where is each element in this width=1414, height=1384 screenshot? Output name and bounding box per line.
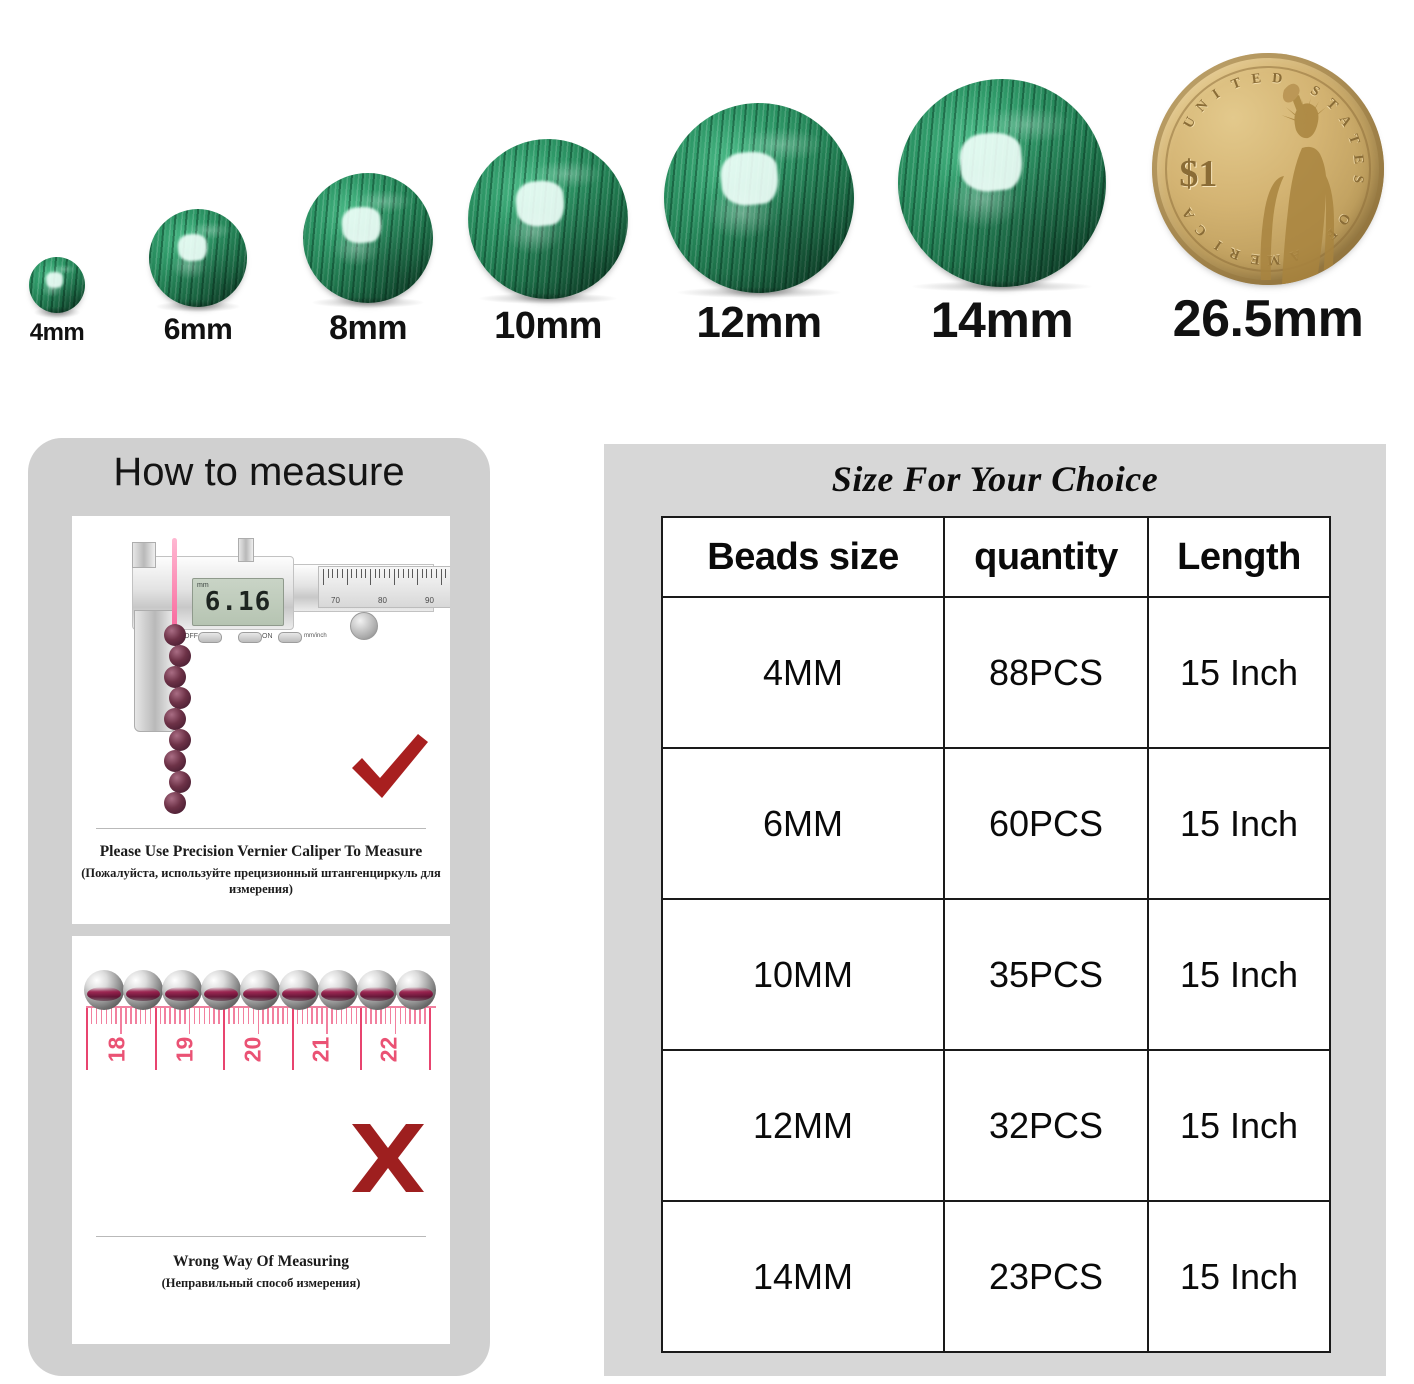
bead-sample: 4mm xyxy=(2,249,112,345)
bead-shadow xyxy=(156,301,240,312)
table-row: 14MM23PCS15 Inch xyxy=(662,1201,1330,1352)
table-cell: 15 Inch xyxy=(1148,1050,1330,1201)
table-cell: 4MM xyxy=(662,597,944,748)
steel-bead xyxy=(123,970,163,1010)
correct-measuring-photo: mm 6.16 OFF ON mm/inch 708090 Ple xyxy=(72,516,450,924)
wrong-caption-en: Wrong Way Of Measuring xyxy=(72,1252,450,1271)
caliper-scale-tick xyxy=(384,569,385,578)
caliper-scale-tick xyxy=(389,569,390,578)
statue-of-liberty-icon xyxy=(1244,80,1364,285)
caliper-scale-tick xyxy=(370,569,371,585)
malachite-bead xyxy=(664,103,854,293)
caliper-scale-tick xyxy=(436,569,437,578)
caliper-scale-tick xyxy=(398,569,399,578)
measured-bead-strand xyxy=(160,624,200,814)
malachite-bead xyxy=(29,257,85,313)
caliper-unit-label: mm xyxy=(197,582,209,589)
bead-highlight xyxy=(514,178,566,228)
malachite-bead xyxy=(303,173,433,303)
how-to-measure-title: How to measure xyxy=(28,450,490,494)
steel-bead xyxy=(357,970,397,1010)
bead-size-label: 12mm xyxy=(696,301,821,345)
caliper-scale-tick xyxy=(417,569,418,585)
table-column-header: Length xyxy=(1148,517,1330,597)
caliper-on-button[interactable] xyxy=(238,632,262,643)
tape-major-tick xyxy=(223,1008,225,1070)
caliper-scale-tick xyxy=(365,569,366,578)
caliper-scale-tick xyxy=(361,569,362,578)
bead-sample: 12mm xyxy=(664,95,854,345)
tape-number: 22 xyxy=(375,1037,402,1063)
tape-major-tick xyxy=(429,1008,431,1070)
bead-highlight xyxy=(340,205,383,245)
bead-size-label: 10mm xyxy=(494,307,602,345)
caliper-reading: 6.16 xyxy=(205,587,272,617)
caliper-scale-tick xyxy=(328,569,329,578)
caliper-scale-tick xyxy=(422,569,423,578)
caliper-scale-tick xyxy=(379,569,380,578)
table-column-header: Beads size xyxy=(662,517,944,597)
caliper-on-label: ON xyxy=(262,633,273,640)
caliper-scale-tick xyxy=(426,569,427,578)
vernier-caliper-illustration: mm 6.16 OFF ON mm/inch 708090 xyxy=(72,528,450,818)
bead-size-label: 8mm xyxy=(329,311,407,345)
tape-number: 19 xyxy=(171,1037,198,1063)
sample-bead xyxy=(164,792,186,814)
bead-sample: 6mm xyxy=(143,201,253,345)
sample-bead xyxy=(164,708,186,730)
correct-caption-ru: (Пожалуйста, используйте прецизионный шт… xyxy=(72,865,450,898)
caliper-scale-number: 80 xyxy=(378,596,387,605)
bead-shadow xyxy=(912,281,1092,292)
malachite-bead xyxy=(468,139,628,299)
caliper-scale-tick xyxy=(351,569,352,578)
bead-highlight xyxy=(718,150,780,209)
table-cell: 23PCS xyxy=(944,1201,1148,1352)
bead-sample: 8mm xyxy=(303,165,433,345)
caliper-scale-tick xyxy=(337,569,338,578)
table-cell: 6MM xyxy=(662,748,944,899)
bead-size-comparison-row: 4mm6mm8mm10mm12mm14mmUNITEDSTATESOFAMERI… xyxy=(0,0,1414,345)
sample-bead xyxy=(169,687,191,709)
bead-highlight xyxy=(45,271,63,288)
correct-caption-en: Please Use Precision Vernier Caliper To … xyxy=(72,842,450,861)
tape-major-tick xyxy=(360,1008,362,1070)
steel-bead xyxy=(318,970,358,1010)
bead-sample: 14mm xyxy=(898,71,1106,345)
table-row: 6MM60PCS15 Inch xyxy=(662,748,1330,899)
table-cell: 88PCS xyxy=(944,597,1148,748)
tape-number: 21 xyxy=(307,1037,334,1063)
table-cell: 12MM xyxy=(662,1050,944,1201)
caliper-off-button[interactable] xyxy=(198,632,222,643)
tape-number: 18 xyxy=(103,1037,130,1063)
sample-bead xyxy=(169,729,191,751)
caliper-scale-number: 70 xyxy=(331,596,340,605)
table-cell: 60PCS xyxy=(944,748,1148,899)
table-cell: 32PCS xyxy=(944,1050,1148,1201)
tape-major-tick xyxy=(86,1008,88,1070)
caliper-lock-screw[interactable] xyxy=(350,612,378,640)
size-chart-panel: Size For Your Choice Beads sizequantityL… xyxy=(604,444,1386,1376)
caliper-depth-bar xyxy=(238,538,254,562)
steel-bead xyxy=(162,970,202,1010)
steel-bead xyxy=(396,970,436,1010)
bead-sample: 10mm xyxy=(468,131,628,345)
caliper-scale-tick xyxy=(441,569,442,585)
table-cell: 35PCS xyxy=(944,899,1148,1050)
sample-bead xyxy=(164,624,186,646)
tape-major-tick xyxy=(155,1008,157,1070)
check-icon xyxy=(346,730,432,804)
caliper-lcd-display: mm 6.16 xyxy=(192,578,284,626)
steel-bead xyxy=(84,970,124,1010)
caliper-pink-rod xyxy=(172,538,177,630)
caliper-scale-tick xyxy=(347,569,348,585)
caliper-scale-tick xyxy=(323,569,324,585)
bead-shadow xyxy=(312,297,424,308)
malachite-bead xyxy=(149,209,247,307)
table-cell: 15 Inch xyxy=(1148,899,1330,1050)
caliper-scale-tick xyxy=(375,569,376,578)
wrong-measuring-photo: 1819202122 Wrong Way Of Measuring (Непра… xyxy=(72,936,450,1344)
size-chart-table: Beads sizequantityLength 4MM88PCS15 Inch… xyxy=(661,516,1331,1353)
how-to-measure-panel: How to measure mm 6.16 OFF ON mm/inch 70… xyxy=(28,438,490,1376)
caliper-scale-tick xyxy=(342,569,343,578)
bead-size-label: 14mm xyxy=(931,295,1074,345)
caliper-upper-jaw xyxy=(132,542,156,568)
wrong-caption-ru: (Неправильный способ измерения) xyxy=(72,1275,450,1291)
table-cell: 15 Inch xyxy=(1148,748,1330,899)
sample-bead xyxy=(169,645,191,667)
tape-measure: 1819202122 xyxy=(86,1006,436,1114)
malachite-bead xyxy=(898,79,1106,287)
table-row: 10MM35PCS15 Inch xyxy=(662,899,1330,1050)
steel-bead xyxy=(201,970,241,1010)
tape-major-tick xyxy=(292,1008,294,1070)
steel-bead xyxy=(240,970,280,1010)
steel-bead xyxy=(279,970,319,1010)
caliper-scale: 708090 xyxy=(318,566,450,608)
steel-bead-strand xyxy=(84,970,440,1012)
us-dollar-coin: UNITEDSTATESOFAMERICA$1 xyxy=(1152,53,1384,285)
caliper-scale-tick xyxy=(412,569,413,578)
table-row: 4MM88PCS15 Inch xyxy=(662,597,1330,748)
caliper-scale-tick xyxy=(445,569,446,578)
cross-icon xyxy=(348,1120,428,1196)
sample-bead xyxy=(164,750,186,772)
bead-highlight xyxy=(177,233,209,263)
table-cell: 15 Inch xyxy=(1148,597,1330,748)
caliper-scale-number: 90 xyxy=(425,596,434,605)
bead-size-label: 26.5mm xyxy=(1173,293,1364,345)
caliper-mode-button[interactable] xyxy=(278,632,302,643)
bead-size-label: 6mm xyxy=(164,315,233,345)
bead-shadow xyxy=(34,307,80,318)
table-header-row: Beads sizequantityLength xyxy=(662,517,1330,597)
caliper-scale-tick xyxy=(431,569,432,578)
caliper-scale-tick xyxy=(403,569,404,578)
table-cell: 10MM xyxy=(662,899,944,1050)
bead-highlight xyxy=(958,130,1026,194)
caliper-mode-label: mm/inch xyxy=(304,633,327,639)
caliper-scale-tick xyxy=(408,569,409,578)
caliper-scale-tick xyxy=(332,569,333,578)
table-cell: 14MM xyxy=(662,1201,944,1352)
coin-sample: UNITEDSTATESOFAMERICA$126.5mm xyxy=(1152,45,1384,345)
sample-bead xyxy=(169,771,191,793)
caliper-scale-tick xyxy=(394,569,395,585)
bead-shadow xyxy=(677,287,841,298)
bead-size-label: 4mm xyxy=(30,321,85,345)
sample-bead xyxy=(164,666,186,688)
table-cell: 15 Inch xyxy=(1148,1201,1330,1352)
tape-number: 20 xyxy=(239,1037,266,1063)
table-row: 12MM32PCS15 Inch xyxy=(662,1050,1330,1201)
size-chart-title: Size For Your Choice xyxy=(604,458,1386,500)
tape-measure-illustration: 1819202122 xyxy=(72,954,450,1204)
bead-shadow xyxy=(479,293,617,304)
coin-denomination: $1 xyxy=(1179,152,1217,196)
caliper-scale-tick xyxy=(356,569,357,578)
table-column-header: quantity xyxy=(944,517,1148,597)
